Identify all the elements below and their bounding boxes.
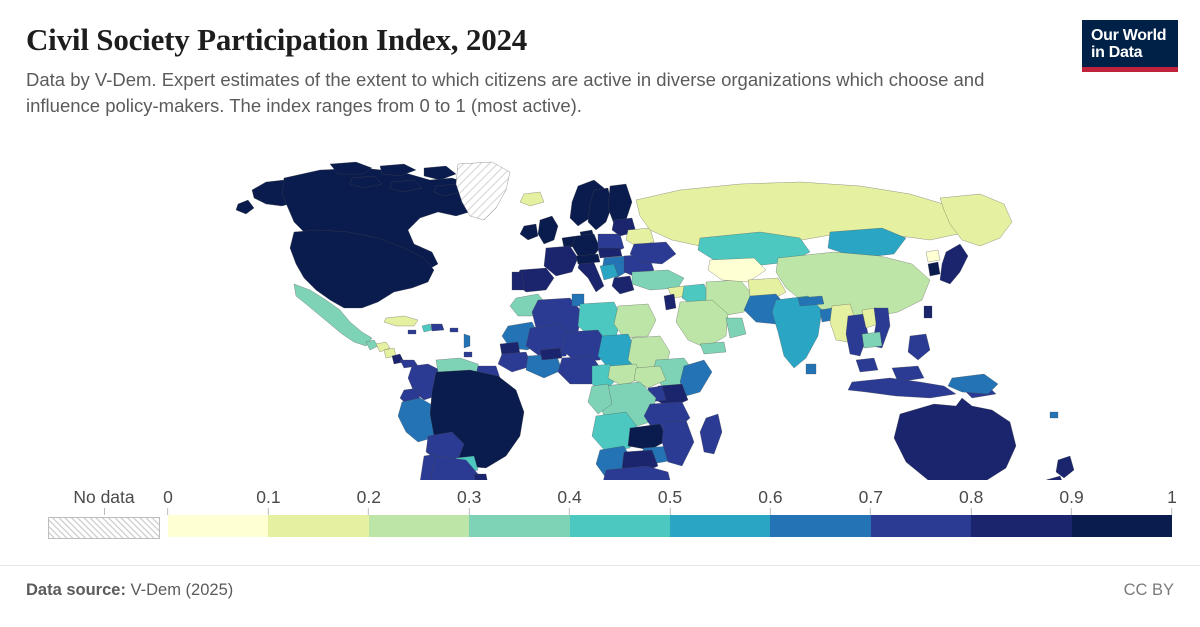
country-trinidad[interactable] [464, 352, 472, 357]
country-madagascar[interactable] [700, 414, 722, 454]
legend-no-data-swatch[interactable] [48, 517, 160, 539]
legend-tick-label: 0.2 [357, 487, 381, 507]
legend-bin-2[interactable] [369, 515, 469, 537]
legend-tick-mark [1171, 508, 1172, 515]
country-israel-jordan[interactable] [664, 294, 676, 310]
legend-bin-4[interactable] [570, 515, 670, 537]
legend-tick-6: 0.6 [758, 487, 782, 515]
legend-tick-label: 0.3 [457, 487, 481, 507]
legend-tick-mark [870, 508, 871, 515]
legend-tick-mark [770, 508, 771, 515]
legend-tick-mark [167, 508, 168, 515]
country-zambia[interactable] [628, 424, 668, 450]
legend-no-data-label: No data [48, 487, 160, 507]
legend-bin-1[interactable] [268, 515, 368, 537]
logo-line-2: in Data [1091, 44, 1178, 61]
country-north-korea[interactable] [926, 250, 940, 262]
country-greece[interactable] [612, 276, 634, 294]
country-papua-new-guinea[interactable] [948, 374, 998, 394]
country-cambodia[interactable] [862, 332, 882, 348]
country-south-korea[interactable] [928, 262, 940, 276]
legend-tick-mark [669, 508, 670, 515]
country-saudi-arabia[interactable] [676, 300, 728, 348]
country-russia-far-east[interactable] [940, 194, 1012, 246]
country-united-kingdom[interactable] [538, 216, 558, 244]
country-finland[interactable] [608, 184, 632, 224]
country-jamaica[interactable] [408, 330, 416, 334]
legend-tick-label: 0.6 [758, 487, 782, 507]
chart-header: Civil Society Participation Index, 2024 … [26, 20, 1046, 118]
data-source: Data source: V-Dem (2025) [26, 580, 233, 600]
legend-bin-8[interactable] [971, 515, 1071, 537]
chart-footer: Data source: V-Dem (2025) CC BY [0, 565, 1200, 627]
legend-bin-5[interactable] [670, 515, 770, 537]
legend-tick-mark [368, 508, 369, 515]
country-uruguay[interactable] [474, 474, 488, 480]
data-source-label: Data source: [26, 581, 126, 599]
legend-tick-label: 0 [163, 487, 173, 507]
legend-tick-3: 0.3 [457, 487, 481, 515]
legend-color-bar[interactable] [168, 515, 1172, 537]
legend-bin-7[interactable] [871, 515, 971, 537]
legend-tick-1: 0.1 [256, 487, 280, 515]
country-uzbekistan-turkmenistan[interactable] [708, 258, 766, 282]
country-iceland[interactable] [520, 192, 544, 206]
legend-bin-3[interactable] [469, 515, 569, 537]
country-philippines[interactable] [908, 334, 930, 360]
legend-tick-label: 0.4 [557, 487, 581, 507]
legend-tick-5: 0.5 [658, 487, 682, 515]
legend-scale-group[interactable]: 00.10.20.30.40.50.60.70.80.91 [168, 487, 1172, 537]
country-puerto-rico[interactable] [450, 328, 458, 332]
legend-tick-mark [971, 508, 972, 515]
legend-bin-6[interactable] [770, 515, 870, 537]
legend-tick-label: 0.8 [959, 487, 983, 507]
data-source-value: V-Dem (2025) [131, 581, 234, 599]
logo-line-1: Our World [1091, 27, 1178, 44]
world-map-svg[interactable] [0, 160, 1200, 480]
country-lesser-antilles[interactable] [464, 334, 470, 348]
country-haiti[interactable] [422, 324, 432, 332]
legend-tick-10: 1 [1167, 487, 1177, 515]
country-egypt[interactable] [614, 304, 656, 338]
page-title: Civil Society Participation Index, 2024 [26, 20, 1046, 60]
country-oman-uae[interactable] [726, 318, 746, 338]
legend-no-data-group[interactable]: No data [48, 487, 160, 507]
country-australia[interactable] [894, 398, 1016, 480]
license-label[interactable]: CC BY [1124, 580, 1174, 600]
legend-tick-label: 0.7 [859, 487, 883, 507]
legend-tick-label: 0.9 [1059, 487, 1083, 507]
world-choropleth-map[interactable] [0, 160, 1200, 480]
legend-tick-mark [569, 508, 570, 515]
legend-tick-mark [469, 508, 470, 515]
legend-tick-mark [268, 508, 269, 515]
country-new-zealand[interactable] [1042, 456, 1074, 480]
country-japan[interactable] [940, 244, 968, 284]
legend-tick-label: 1 [1167, 487, 1177, 507]
map-legend: No data 00.10.20.30.40.50.60.70.80.91 [0, 487, 1200, 549]
country-india[interactable] [772, 296, 822, 368]
legend-tick-9: 0.9 [1059, 487, 1083, 515]
legend-bin-9[interactable] [1072, 515, 1172, 537]
legend-tick-label: 0.1 [256, 487, 280, 507]
legend-tick-2: 0.2 [357, 487, 381, 515]
our-world-in-data-logo[interactable]: Our World in Data [1082, 20, 1178, 72]
country-sri-lanka[interactable] [806, 364, 816, 374]
country-france[interactable] [544, 246, 578, 276]
chart-subtitle: Data by V-Dem. Expert estimates of the e… [26, 67, 1011, 118]
country-portugal[interactable] [512, 272, 524, 290]
legend-tick-row: 00.10.20.30.40.50.60.70.80.91 [168, 487, 1172, 515]
country-taiwan[interactable] [924, 306, 932, 318]
country-fiji[interactable] [1050, 412, 1058, 418]
legend-tick-4: 0.4 [557, 487, 581, 515]
country-guatemala[interactable] [366, 340, 378, 350]
legend-tick-0: 0 [163, 487, 173, 515]
legend-tick-7: 0.7 [859, 487, 883, 515]
legend-tick-mark [1071, 508, 1072, 515]
country-cuba[interactable] [384, 316, 418, 326]
country-burkina[interactable] [540, 348, 562, 360]
country-dominican-republic[interactable] [431, 324, 444, 331]
legend-bin-0[interactable] [168, 515, 268, 537]
legend-no-data-tick [104, 508, 105, 515]
country-russia[interactable] [636, 182, 966, 248]
country-yemen[interactable] [700, 342, 726, 354]
country-ireland[interactable] [520, 224, 538, 240]
legend-tick-8: 0.8 [959, 487, 983, 515]
country-czechia-slovakia[interactable] [598, 248, 622, 258]
legend-tick-label: 0.5 [658, 487, 682, 507]
